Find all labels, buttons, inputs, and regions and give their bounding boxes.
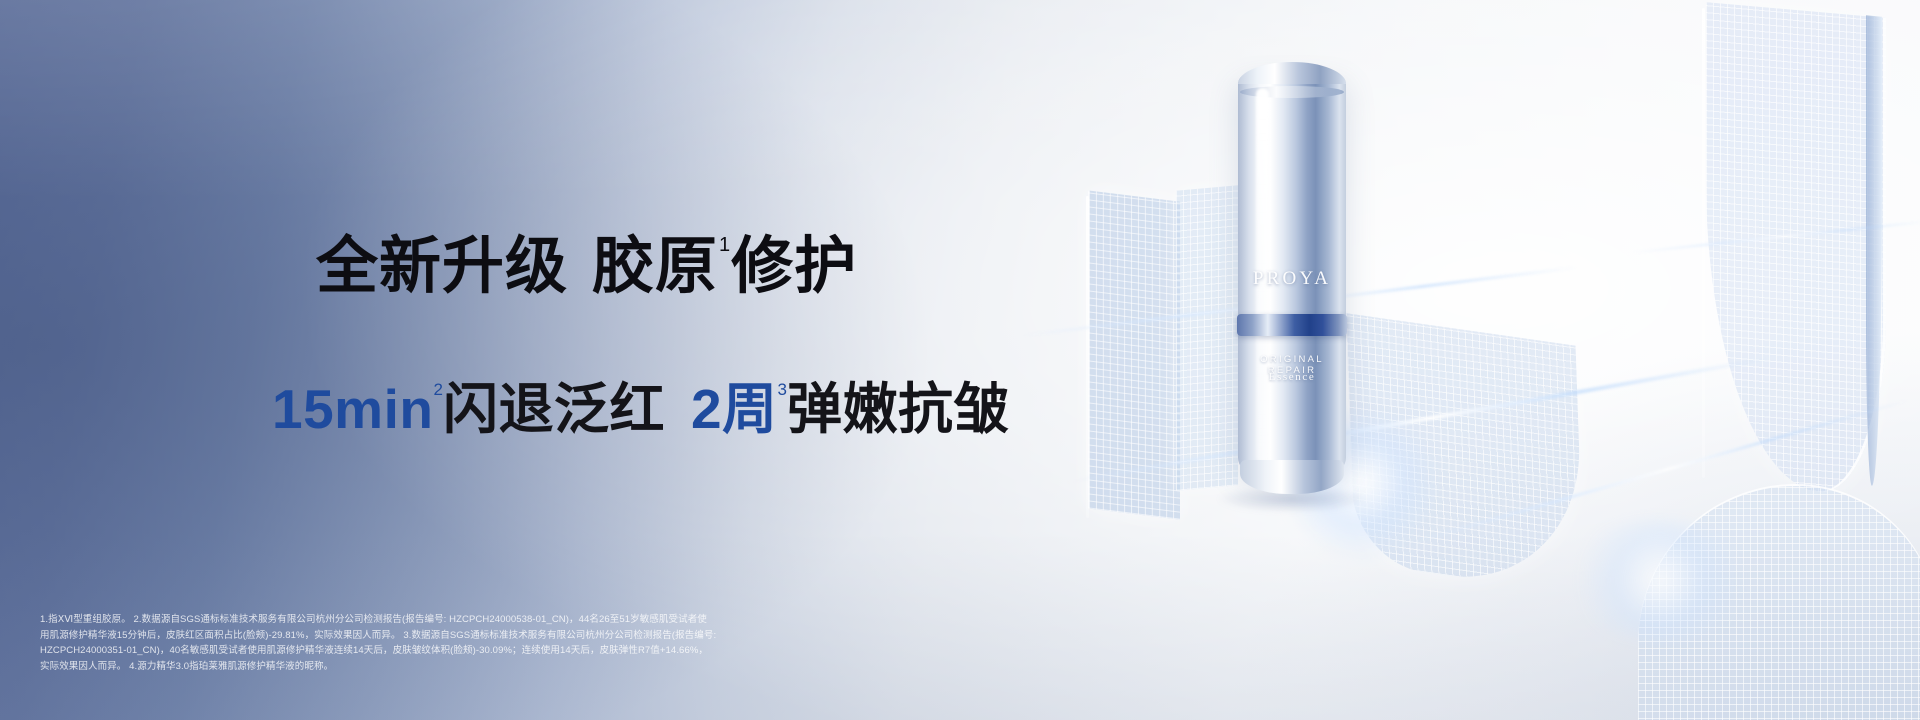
subline-metric-1: 15min — [272, 378, 433, 440]
subline-footnote-marker-2: 2 — [433, 380, 442, 399]
footnote-line-2: 用肌源修护精华液15分钟后，皮肤红区面积占比(脸颊)-29.81%，实际效果因人… — [40, 628, 940, 644]
banner-stage: PROYA ORIGINAL REPAIR Essence 全新升级胶原1修护 … — [0, 0, 1920, 720]
subline-footnote-marker-3: 3 — [778, 380, 787, 399]
bottle-cap — [1238, 62, 1346, 84]
footnote-line-1: 1.指ⅩⅥ型重组胶原。 2.数据源自SGS通标标准技术服务有限公司杭州分公司检测… — [40, 612, 940, 628]
headline-part-3: 修护 — [731, 232, 857, 301]
footnotes-block: 1.指ⅩⅥ型重组胶原。 2.数据源自SGS通标标准技术服务有限公司杭州分公司检测… — [40, 612, 940, 674]
headline-footnote-marker-1: 1 — [719, 234, 730, 256]
product-bottle: PROYA ORIGINAL REPAIR Essence — [1234, 62, 1350, 530]
headline-part-1: 全新升级 — [316, 232, 568, 301]
bottle-blue-band — [1237, 314, 1347, 336]
footnote-line-4: 实际效果因人而异。 4.源力精华3.0指珀莱雅肌源修护精华液的昵称。 — [40, 659, 940, 675]
subline-claim-1: 闪退泛红 — [443, 378, 665, 440]
headline: 全新升级胶原1修护 — [316, 236, 857, 298]
bottle-brand-wordmark: PROYA — [1234, 268, 1350, 290]
bottle-product-type: Essence — [1234, 371, 1350, 383]
footnote-line-3: HZCPCH24000351-01_CN)，40名敏感肌受试者使用肌源修护精华液… — [40, 643, 940, 659]
subline-metric-2: 2周 — [691, 378, 778, 440]
headline-part-2: 胶原 — [592, 232, 718, 301]
subline-claim-2: 弹嫩抗皱 — [787, 378, 1009, 440]
subline: 15min2闪退泛红2周3弹嫩抗皱 — [272, 382, 1009, 437]
